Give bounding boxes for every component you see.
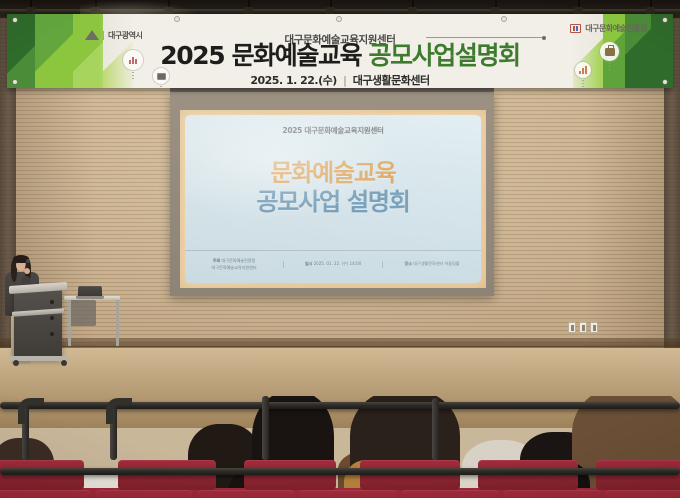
- theater-seat: [402, 490, 498, 498]
- presenter-hand: [24, 268, 30, 274]
- theater-seat: [198, 490, 294, 498]
- theater-seat: [606, 490, 680, 498]
- banner-date: 2025. 1. 22.(수): [250, 74, 336, 87]
- theater-seat: [0, 490, 90, 498]
- podium-base: [10, 356, 68, 361]
- banner-main-title: 2025 문화예술교육 공모사업설명회: [7, 42, 673, 69]
- audience-area: [0, 396, 680, 498]
- theater-seat: [596, 460, 680, 490]
- theater-seat: [504, 490, 600, 498]
- safety-railing-lower: [0, 468, 680, 475]
- chair: [70, 300, 96, 326]
- banner-title-black: 2025 문화예술교육: [160, 41, 361, 70]
- briefcase-icon: [600, 42, 619, 61]
- slide-footer: 주최 대구문화예술진흥원 대구문화예술교육지원센터 일시 2025. 01. 2…: [185, 250, 481, 278]
- banner-header-rule: [426, 37, 544, 38]
- slide-footer-location: 장소 대구생활문화센터 어울림홀: [382, 261, 481, 268]
- theater-seat: [0, 460, 84, 490]
- theater-seat: [300, 490, 396, 498]
- safety-railing-upper: [0, 402, 680, 409]
- presentation-slide: 2025 대구문화예술교육지원센터 문화예술교육 공모사업 설명회 주최 대구문…: [180, 110, 486, 288]
- slide-title: 문화예술교육 공모사업 설명회: [185, 159, 481, 218]
- outlet-icon: [568, 322, 576, 333]
- banner-separator: |: [343, 74, 346, 87]
- theater-seat: [244, 460, 336, 490]
- laptop-base: [76, 296, 104, 299]
- theater-seat: [118, 460, 216, 490]
- podium: [14, 288, 62, 360]
- banner-place: 대구생활문화센터: [353, 74, 430, 87]
- slide-footer-host: 주최 대구문화예술진흥원 대구문화예술교육지원센터: [185, 258, 283, 271]
- bar-chart-icon: [123, 50, 143, 70]
- bar-chart-icon: [575, 62, 591, 78]
- slide-title-line1: 문화예술교육: [185, 159, 481, 188]
- slide-header-text: 2025 대구문화예술교육지원센터: [185, 125, 481, 136]
- seminar-photograph: 2025 대구문화예술교육지원센터 문화예술교육 공모사업 설명회 주최 대구문…: [0, 0, 680, 498]
- slide-title-line2: 공모사업 설명회: [185, 188, 481, 217]
- theater-seat: [96, 490, 192, 498]
- wall-outlets: [568, 322, 598, 333]
- outlet-icon: [579, 322, 587, 333]
- theater-seat: [478, 460, 578, 490]
- theater-seat: [360, 460, 460, 490]
- banner-subtitle: 2025. 1. 22.(수) | 대구생활문화센터: [7, 72, 673, 88]
- banner-title-green: 공모사업설명회: [369, 41, 520, 70]
- microphone-head: [26, 259, 30, 263]
- slide-footer-datetime: 일시 2025. 01. 22. (수) 14:00: [283, 261, 382, 268]
- monitor-icon: [153, 68, 169, 84]
- outlet-icon: [590, 322, 598, 333]
- event-banner: 대구광역시 대구문화예술진흥원 대구문화예술교육지원센터 2025 문화예술교육…: [7, 14, 673, 88]
